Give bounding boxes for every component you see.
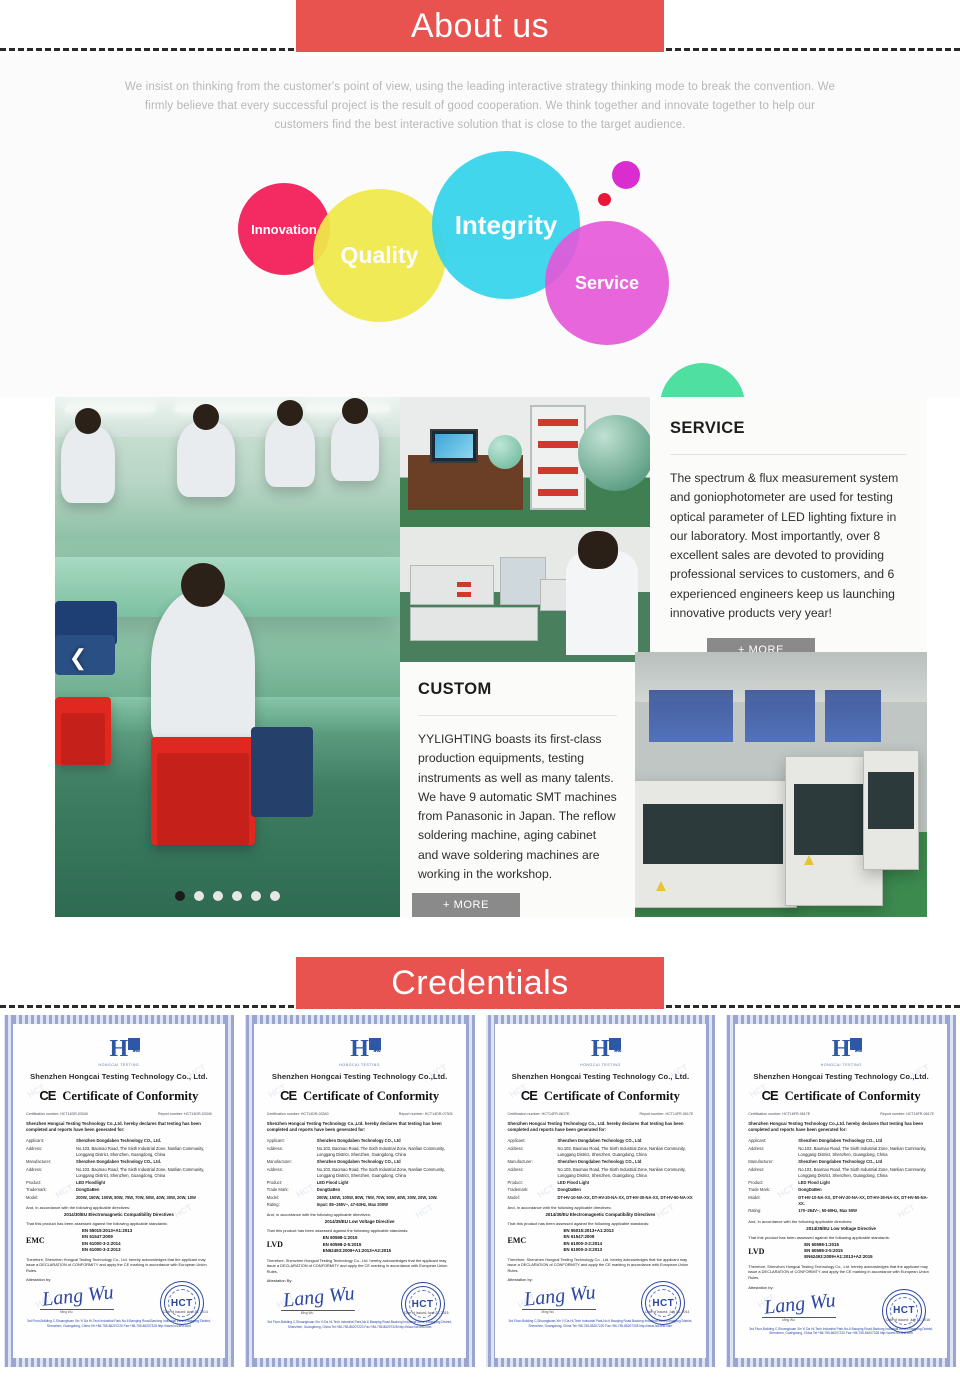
values-bubble-diagram: Innovation Quality Integrity Service Val… — [0, 149, 960, 397]
cert-signature-icon: Lang Wu — [41, 1282, 115, 1312]
cert-field-key: Address: — [26, 1167, 76, 1180]
cert-field-value: 200W, 150W, 100W, 80W, 75W, 70W, 50W, 40… — [76, 1195, 212, 1201]
cert-field-key: Address: — [508, 1146, 558, 1159]
hct-seal-icon: HCT — [160, 1281, 204, 1325]
ce-mark-icon: CE — [521, 1088, 537, 1103]
cert-field-row: Address:No.103, Baomao Road, The Sixth I… — [267, 1146, 453, 1159]
cert-field-row: Address:No.103, Baomao Road, The Sixth I… — [748, 1146, 934, 1159]
bubble-service-label: Service — [575, 274, 639, 292]
service-panel-title: SERVICE — [670, 419, 907, 438]
cert-field-key: Trademark: — [26, 1187, 76, 1193]
hct-logo-icon: H诚 — [96, 1036, 142, 1062]
cert-standards-row: LVDEN 60598-1:2015EN 60598-2-5:2015EN624… — [748, 1242, 934, 1261]
cert-field-key: Model: — [508, 1195, 558, 1201]
cert-company-name: Shenzhen Hongcai Testing Technology Co.,… — [748, 1072, 934, 1081]
carousel-dot-6[interactable] — [270, 891, 280, 901]
cert-field-row: Product:LED Flood Light — [508, 1180, 694, 1186]
cert-standards-list: EN 60598-1:2015EN 60598-2-5:2015EN62493:… — [309, 1235, 453, 1254]
cert-field-value: Shenzhen Dongdaben Technology CO., Ltd. — [76, 1159, 212, 1165]
cert-directive-note: And, in accordance with the following ap… — [508, 1205, 694, 1210]
cert-lead-text: Shenzhen Hongcai Testing Technology Co.,… — [508, 1121, 694, 1133]
cert-standards-list: EN 55015:2013+A1:2013EN 61547:2009EN 610… — [550, 1228, 694, 1254]
carousel-dot-1[interactable] — [175, 891, 185, 901]
cert-field-key: Address: — [26, 1146, 76, 1159]
cert-field-value: Shenzhen Dongdaben Technology CO., Ltd — [317, 1159, 453, 1165]
cert-field-key: Trademark: — [508, 1187, 558, 1193]
ce-mark-icon: CE — [762, 1088, 778, 1103]
cert-signature-block: Lang WuMing WuDate of Issued: April 22, … — [267, 1284, 453, 1318]
cert-standards-row: EMCEN 55015:2013+A1:2013EN 61547:2009EN … — [26, 1228, 212, 1254]
cert-logo-subtitle: HONGCAI TESTING — [267, 1063, 453, 1067]
cert-field-key: Applicant: — [267, 1138, 317, 1144]
cert-field-row: Rating:170~264V~, 50-60Hz, Max 50W — [748, 1208, 934, 1214]
cert-field-value: Shenzhen Dongdaben Technology CO., Ltd — [558, 1138, 694, 1144]
cert-body: HCTHCTHCTHCTHCTHCTH诚HONGCAI TESTINGShenz… — [256, 1026, 464, 1356]
cert-field-row: Model:DT-HV-10-NA-XX, DT-HV-20-NA-XX, DT… — [748, 1195, 934, 1208]
cert-body: HCTHCTHCTHCTHCTHCTH诚HONGCAI TESTINGShenz… — [497, 1026, 705, 1356]
credentials-gallery: HCTHCTHCTHCTHCTHCTH诚HONGCAI TESTINGShenz… — [0, 1013, 960, 1379]
cert-field-value: No.103, Baomao Road, The Sixth Industria… — [798, 1146, 934, 1159]
photo-lab-integrating-sphere — [400, 397, 650, 527]
cert-standard-item: EN 61000-3-3:2013 — [82, 1247, 212, 1253]
certificate-row: HCTHCTHCTHCTHCTHCTH诚HONGCAI TESTINGShenz… — [0, 1013, 960, 1369]
cert-field-row: Trade Mark:DongDaBen — [748, 1187, 934, 1193]
cert-field-row: Product:LED Flood Light — [267, 1180, 453, 1186]
ce-mark-icon: CE — [280, 1088, 296, 1103]
cert-field-key: Address: — [267, 1146, 317, 1159]
cert-field-key: Trade Mark: — [748, 1187, 798, 1193]
cert-field-key: Applicant: — [748, 1138, 798, 1144]
cert-standards-row: EMCEN 55015:2013+A1:2013EN 61547:2009EN … — [508, 1228, 694, 1254]
about-us-banner-title: About us — [296, 0, 664, 52]
cert-title: CECertificate of Conformity — [508, 1088, 694, 1104]
cert-field-value: No.103, Baomao Road, The Sixth Industria… — [798, 1167, 934, 1180]
cert-field-key: Applicant: — [26, 1138, 76, 1144]
about-us-page: About us We insist on thinking from the … — [0, 0, 960, 1398]
cert-standards-row: LVDEN 60598-1:2015EN 60598-2-5:2015EN624… — [267, 1235, 453, 1254]
cert-field-value: No.103, Baomao Road, The Sixth Industria… — [558, 1146, 694, 1159]
cert-body: HCTHCTHCTHCTHCTHCTH诚HONGCAI TESTINGShenz… — [15, 1026, 223, 1356]
bubble-service: Service — [545, 221, 669, 345]
cert-field-key: Manufacturer: — [26, 1159, 76, 1165]
cert-field-row: Model:DT-HV-10-NA-XX, DT-HV-20-NA-XX, DT… — [508, 1195, 694, 1201]
cert-standard-item: EN62493:2009+A1:2013+A2:2015 — [804, 1254, 934, 1260]
cert-logo-subtitle: HONGCAI TESTING — [26, 1063, 212, 1067]
cert-field-value: Shenzhen Dongdaben Technology CO., Ltd — [317, 1138, 453, 1144]
cert-directive-note: And, in accordance with the following ap… — [748, 1219, 934, 1224]
cert-field-key: Product: — [748, 1180, 798, 1186]
cert-field-key: Address: — [267, 1167, 317, 1180]
cert-report-number: Report number: HCT14DR-03340 — [158, 1112, 212, 1116]
hct-logo-icon: H诚 — [818, 1036, 864, 1062]
cert-title: CECertificate of Conformity — [748, 1088, 934, 1104]
cert-field-value: DT-HV-10-NA-XX, DT-HV-20-NA-XX, DT-HV-30… — [558, 1195, 694, 1201]
cert-report-number: Report number: HCT16FR-0617E — [880, 1112, 934, 1116]
cert-logo: H诚HONGCAI TESTING — [26, 1036, 212, 1067]
cert-field-value: LED Flood Light — [558, 1180, 694, 1186]
certificate-card[interactable]: HCTHCTHCTHCTHCTHCTH诚HONGCAI TESTINGShenz… — [243, 1013, 477, 1369]
cert-field-key: Product: — [26, 1180, 76, 1186]
cert-directive: 2014/30/EU Electromagnetic Compatibility… — [26, 1212, 212, 1217]
cert-numbers: Certification number: HCT14FR-0617ERepor… — [508, 1112, 694, 1116]
bubble-integrity-label: Integrity — [455, 212, 558, 238]
certificate-card[interactable]: HCTHCTHCTHCTHCTHCTH诚HONGCAI TESTINGShenz… — [724, 1013, 958, 1369]
cert-field-row: Trade Mark:DongDaBen — [267, 1187, 453, 1193]
cert-logo: H诚HONGCAI TESTING — [748, 1036, 934, 1067]
cert-field-key: Model: — [748, 1195, 798, 1208]
about-intro-block: We insist on thinking from the customer'… — [0, 56, 960, 149]
service-panel-divider — [670, 454, 907, 455]
cert-field-row: Address:No.103, Baomao Road, The Sixth I… — [26, 1146, 212, 1159]
cert-field-value: DongDaBen — [798, 1187, 934, 1193]
cert-body: HCTHCTHCTHCTHCTHCTH诚HONGCAI TESTINGShenz… — [737, 1026, 945, 1356]
cert-field-key: Rating: — [748, 1208, 798, 1214]
about-intro-text: We insist on thinking from the customer'… — [118, 78, 842, 135]
cert-field-row: Manufacturer:Shenzhen Dongdaben Technolo… — [267, 1159, 453, 1165]
cert-fields: Applicant:Shenzhen Dongdaben Technology … — [26, 1138, 212, 1201]
cert-certification-number: Certification number: HCT16FR-0617E — [748, 1112, 810, 1116]
cert-field-row: Manufacturer:Shenzhen Dongdaben Technolo… — [748, 1159, 934, 1165]
cert-field-value: DongDaBen — [317, 1187, 453, 1193]
custom-panel-title: CUSTOM — [418, 680, 617, 699]
cert-field-row: Product:LED Flood Light — [748, 1180, 934, 1186]
certificate-card[interactable]: HCTHCTHCTHCTHCTHCTH诚HONGCAI TESTINGShenz… — [484, 1013, 718, 1369]
carousel-dot-4[interactable] — [232, 891, 242, 901]
cert-logo-subtitle: HONGCAI TESTING — [748, 1063, 934, 1067]
cert-field-value: Shenzhen Dongdaben Technology CO., Ltd — [558, 1159, 694, 1165]
bubble-quality-label: Quality — [341, 244, 419, 267]
bubble-accent-magenta — [612, 161, 640, 189]
cert-signer-name: Ming Wu — [542, 1310, 555, 1314]
carousel-dot-5[interactable] — [251, 891, 261, 901]
cert-field-row: Address:No.103, Baomao Road, The Sixth I… — [508, 1146, 694, 1159]
cert-standard-item: EN 61000-3-3:2013 — [564, 1247, 694, 1253]
cert-report-number: Report number: HCT14FR-0617E — [640, 1112, 694, 1116]
cert-field-value: DT-HV-10-NA-XX, DT-HV-20-NA-XX, DT-HV-30… — [798, 1195, 934, 1208]
cert-logo: H诚HONGCAI TESTING — [267, 1036, 453, 1067]
cert-company-name: Shenzhen Hongcai Testing Technology Co.,… — [26, 1072, 212, 1081]
cert-certification-number: Certification number: HCT14DR-03340 — [267, 1112, 329, 1116]
cert-field-value: No.103, Baomao Road, The Sixth Industria… — [558, 1167, 694, 1180]
cert-signer-name: Ming Wu — [782, 1318, 795, 1322]
carousel-viewport: SERVICE The spectrum & flux measurement … — [55, 397, 927, 917]
cert-field-key: Address: — [508, 1167, 558, 1180]
certificate-card[interactable]: HCTHCTHCTHCTHCTHCTH诚HONGCAI TESTINGShenz… — [2, 1013, 236, 1369]
carousel-dot-2[interactable] — [194, 891, 204, 901]
cert-field-value: Shenzhen Dongdaben Technology CO., Ltd — [798, 1159, 934, 1165]
cert-lead-text: Shenzhen Hongcai Testing Technology Co.,… — [267, 1121, 453, 1133]
cert-title: CECertificate of Conformity — [267, 1088, 453, 1104]
cert-field-value: No.103, Baomao Road, The Sixth Industria… — [317, 1167, 453, 1180]
cert-standard-tag: LVD — [267, 1240, 309, 1249]
cert-lead-text: Shenzhen Hongcai Testing Technology Co.,… — [26, 1121, 212, 1133]
cert-field-value: Shenzhen Dongdaben Technology CO., Ltd. — [76, 1138, 212, 1144]
cert-field-key: Manufacturer: — [508, 1159, 558, 1165]
cert-field-key: Model: — [26, 1195, 76, 1201]
cert-field-row: Applicant:Shenzhen Dongdaben Technology … — [508, 1138, 694, 1144]
cert-field-row: Rating:Input: 85~265V~, 47-63Hz, Max 200… — [267, 1202, 453, 1208]
cert-field-row: Address:No.103, Baomao Road, The Sixth I… — [748, 1167, 934, 1180]
cert-field-key: Manufacturer: — [748, 1159, 798, 1165]
carousel-prev-arrow-icon[interactable]: ❮ — [67, 645, 89, 671]
cert-field-row: Applicant:Shenzhen Dongdaben Technology … — [267, 1138, 453, 1144]
cert-field-key: Applicant: — [508, 1138, 558, 1144]
cert-field-row: Model:200W, 150W, 100W, 80W, 75W, 70W, 5… — [267, 1195, 453, 1201]
bubble-accent-red — [598, 193, 611, 206]
cert-field-key: Product: — [508, 1180, 558, 1186]
cert-logo: H诚HONGCAI TESTING — [508, 1036, 694, 1067]
cert-acknowledgement: Therefore, Shenzhen Hongcai Testing Tech… — [748, 1264, 934, 1281]
photo-smt-workshop — [635, 652, 927, 917]
cert-directive-note: And, in accordance with the following ap… — [267, 1212, 453, 1217]
cert-signature-block: Lang WuMing WuDate of Issued: July 15, 2… — [748, 1291, 934, 1325]
cert-field-row: Trademark:DongDaBen — [26, 1187, 212, 1193]
cert-field-row: Applicant:Shenzhen Dongdaben Technology … — [748, 1138, 934, 1144]
cert-fields: Applicant:Shenzhen Dongdaben Technology … — [748, 1138, 934, 1214]
cert-numbers: Certification number: HCT14DR-03340Repor… — [26, 1112, 212, 1116]
cert-field-value: Shenzhen Dongdaben Technology CO., Ltd — [798, 1138, 934, 1144]
cert-standards-note: That this product has been assessed agai… — [267, 1228, 453, 1233]
cert-company-name: Shenzhen Hongcai Testing Technology Co.,… — [508, 1072, 694, 1081]
about-us-section-header: About us — [0, 0, 960, 56]
service-panel: SERVICE The spectrum & flux measurement … — [650, 397, 927, 662]
cert-numbers: Certification number: HCT16FR-0617ERepor… — [748, 1112, 934, 1116]
hct-logo-icon: H诚 — [337, 1036, 383, 1062]
cert-standards-list: EN 55015:2013+A1:2013EN 61547:2009EN 610… — [68, 1228, 212, 1254]
cert-logo-subtitle: HONGCAI TESTING — [508, 1063, 694, 1067]
cert-fields: Applicant:Shenzhen Dongdaben Technology … — [508, 1138, 694, 1201]
cert-standards-note: That this product has been assessed agai… — [508, 1221, 694, 1226]
cert-lead-text: Shenzhen Hongcai Testing Technology Co.,… — [748, 1121, 934, 1133]
cert-field-value: LED Flood Light — [798, 1180, 934, 1186]
cert-field-row: Address:No.103, Baomao Road, The Sixth I… — [508, 1167, 694, 1180]
cert-field-key: Trade Mark: — [267, 1187, 317, 1193]
cert-field-value: LED Flood Light — [317, 1180, 453, 1186]
cert-acknowledgement: Therefore, Shenzhen Hongcai Testing Tech… — [26, 1257, 212, 1274]
cert-directive: 2014/30/EU Electromagnetic Compatibility… — [508, 1212, 694, 1217]
cert-report-number: Report number: HCT14DR-07305 — [399, 1112, 453, 1116]
cert-field-value: 170~264V~, 50-60Hz, Max 50W — [798, 1208, 934, 1214]
cert-standard-item: EN62493:2009+A1:2013+A2:2015 — [323, 1248, 453, 1254]
cert-company-name: Shenzhen Hongcai Testing Technology Co.,… — [267, 1072, 453, 1081]
cert-field-value: No.103, Baomao Road, The Sixth Industria… — [76, 1146, 212, 1159]
cert-field-key: Address: — [748, 1167, 798, 1180]
service-panel-body: The spectrum & flux measurement system a… — [670, 469, 907, 623]
cert-signer-name: Ming Wu — [301, 1311, 314, 1315]
photo-lab-measurement — [400, 527, 650, 662]
carousel-dot-3[interactable] — [213, 891, 223, 901]
credentials-banner-title: Credentials — [296, 957, 664, 1009]
custom-panel-body: YYLIGHTING boasts its first-class produc… — [418, 730, 617, 884]
cert-field-value: DongDaBen — [76, 1187, 212, 1193]
cert-signature-icon: Lang Wu — [522, 1282, 596, 1312]
custom-more-button[interactable]: + MORE — [412, 893, 520, 917]
cert-field-value: No.103, Baomao Road, The Sixth Industria… — [76, 1167, 212, 1180]
cert-directive: 2014/35/EU Low Voltage Directive — [267, 1219, 453, 1224]
cert-field-row: Applicant:Shenzhen Dongdaben Technology … — [26, 1138, 212, 1144]
cert-signature-block: Lang WuMing WuDate of Issued: July 15, 2… — [508, 1283, 694, 1317]
cert-standard-tag: LVD — [748, 1247, 790, 1256]
cert-signature-icon: Lang Wu — [763, 1289, 837, 1319]
hct-seal-icon: HCT — [882, 1289, 926, 1333]
ce-mark-icon: CE — [39, 1088, 55, 1103]
cert-acknowledgement: Therefore, Shenzhen Hongcai Testing Tech… — [508, 1257, 694, 1274]
cert-fields: Applicant:Shenzhen Dongdaben Technology … — [267, 1138, 453, 1208]
cert-field-value: LED Floodlight — [76, 1180, 212, 1186]
hct-seal-icon: HCT — [401, 1282, 445, 1326]
cert-signature-block: Lang WuMing WuDate of Issued: April 25, … — [26, 1283, 212, 1317]
cert-standards-note: That this product has been assessed agai… — [748, 1235, 934, 1240]
cert-field-value: No.103, Baomao Road, The Sixth Industria… — [317, 1146, 453, 1159]
cert-field-key: Address: — [748, 1146, 798, 1159]
cert-field-key: Model: — [267, 1195, 317, 1201]
credentials-section-header: Credentials — [0, 957, 960, 1013]
cert-directive: 2014/35/EU Low Voltage Directive — [748, 1226, 934, 1231]
carousel-dots[interactable] — [175, 891, 280, 901]
cert-standards-list: EN 60598-1:2015EN 60598-2-5:2015EN62493:… — [790, 1242, 934, 1261]
custom-panel-divider — [418, 715, 617, 716]
cert-certification-number: Certification number: HCT14FR-0617E — [508, 1112, 570, 1116]
cert-field-row: Address:No.103, Baomao Road, The Sixth I… — [267, 1167, 453, 1180]
cert-field-row: Address:No.103, Baomao Road, The Sixth I… — [26, 1167, 212, 1180]
cert-signature-icon: Lang Wu — [282, 1283, 356, 1313]
photo-production-line — [55, 397, 400, 917]
cert-title: CECertificate of Conformity — [26, 1088, 212, 1104]
cert-field-value: DongDaBen — [558, 1187, 694, 1193]
hct-logo-icon: H诚 — [577, 1036, 623, 1062]
cert-field-row: Model:200W, 150W, 100W, 80W, 75W, 70W, 5… — [26, 1195, 212, 1201]
cert-standards-note: That this product has been assessed agai… — [26, 1221, 212, 1226]
cert-numbers: Certification number: HCT14DR-03340Repor… — [267, 1112, 453, 1116]
cert-field-key: Product: — [267, 1180, 317, 1186]
custom-panel: CUSTOM YYLIGHTING boasts its first-class… — [400, 662, 635, 917]
bubble-quality: Quality — [313, 189, 446, 322]
cert-standard-tag: EMC — [508, 1236, 550, 1245]
cert-field-value: Input: 85~265V~, 47-63Hz, Max 200W — [317, 1202, 453, 1208]
cert-field-key: Manufacturer: — [267, 1159, 317, 1165]
cert-field-key: Rating: — [267, 1202, 317, 1208]
cert-field-value: 200W, 150W, 100W, 80W, 75W, 70W, 50W, 40… — [317, 1195, 453, 1201]
cert-signer-name: Ming Wu — [60, 1310, 73, 1314]
cert-certification-number: Certification number: HCT14DR-03340 — [26, 1112, 88, 1116]
cert-field-row: Manufacturer:Shenzhen Dongdaben Technolo… — [508, 1159, 694, 1165]
bubble-innovation-label: Innovation — [251, 223, 317, 236]
cert-directive-note: And, in accordance with the following ap… — [26, 1205, 212, 1210]
cert-field-row: Product:LED Floodlight — [26, 1180, 212, 1186]
cert-acknowledgement: Therefore, Shenzhen Hongcai Testing Tech… — [267, 1258, 453, 1275]
cert-standard-tag: EMC — [26, 1236, 68, 1245]
cert-field-row: Manufacturer:Shenzhen Dongdaben Technolo… — [26, 1159, 212, 1165]
cert-field-row: Trademark:DongDaBen — [508, 1187, 694, 1193]
